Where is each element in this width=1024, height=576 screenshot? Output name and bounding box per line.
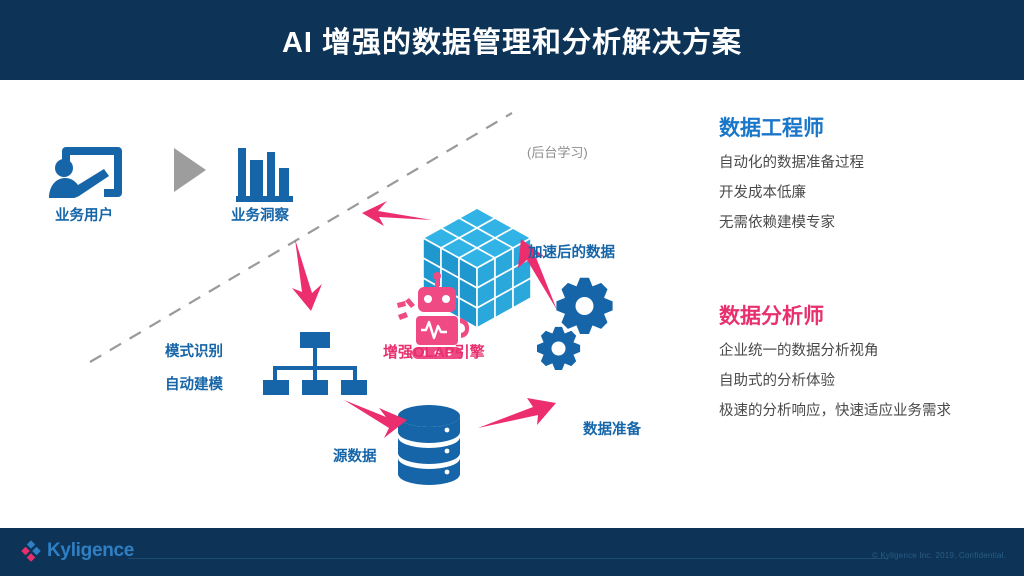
panel-title: 数据分析师 xyxy=(719,300,951,330)
label-background-learning: (后台学习) xyxy=(527,142,588,161)
label-olap-engine: 增强OLAP引擎 xyxy=(383,341,485,362)
play-triangle-icon xyxy=(174,148,206,192)
panel-line: 极速的分析响应，快速适应业务需求 xyxy=(719,399,951,420)
footer-divider xyxy=(128,558,888,559)
brand-name: Kyligence xyxy=(47,540,134,562)
label-business-user: 业务用户 xyxy=(55,204,113,225)
slide-header: AI 增强的数据管理和分析解决方案 xyxy=(0,0,1024,80)
panel-line: 自动化的数据准备过程 xyxy=(719,151,864,172)
arrow-to-data-prep xyxy=(478,398,556,428)
label-accelerated-data: 加速后的数据 xyxy=(528,241,615,262)
kyligence-diamond-icon xyxy=(20,540,42,562)
panel-data-analyst: 数据分析师 企业统一的数据分析视角 自助式的分析体验 极速的分析响应，快速适应业… xyxy=(719,300,951,420)
arrow-to-insight xyxy=(362,201,432,226)
brand-logo: Kyligence xyxy=(20,540,134,562)
label-source-data: 源数据 xyxy=(333,445,377,466)
diagram-canvas: 业务用户 业务洞察 (后台学习) 模式识别 自动建模 源数据 数据准备 加速后的… xyxy=(0,80,1024,528)
panel-line: 自助式的分析体验 xyxy=(719,369,951,390)
panel-line: 无需依赖建模专家 xyxy=(719,211,864,232)
panel-data-engineer: 数据工程师 自动化的数据准备过程 开发成本低廉 无需依赖建模专家 xyxy=(719,112,864,232)
page-title: AI 增强的数据管理和分析解决方案 xyxy=(0,0,1024,80)
label-pattern-recognition: 模式识别 xyxy=(165,340,223,361)
arrow-to-pattern xyxy=(292,239,322,311)
bar-chart-icon xyxy=(236,148,293,202)
presenter-board-icon xyxy=(49,147,122,198)
panel-line: 企业统一的数据分析视角 xyxy=(719,339,951,360)
org-chart-icon xyxy=(263,332,367,395)
slide-footer: Kyligence © Kyligence Inc. 2019, Confide… xyxy=(0,528,1024,576)
label-data-preparation: 数据准备 xyxy=(583,418,641,439)
arrow-to-source-data xyxy=(344,400,407,438)
label-auto-modeling: 自动建模 xyxy=(165,373,223,394)
label-business-insight: 业务洞察 xyxy=(231,204,289,225)
panel-line: 开发成本低廉 xyxy=(719,181,864,202)
database-cylinder-icon xyxy=(398,405,460,485)
panel-title: 数据工程师 xyxy=(719,112,864,142)
slide: AI 增强的数据管理和分析解决方案 xyxy=(0,0,1024,576)
copyright-text: © Kyligence Inc. 2019, Confidential. xyxy=(872,551,1006,560)
